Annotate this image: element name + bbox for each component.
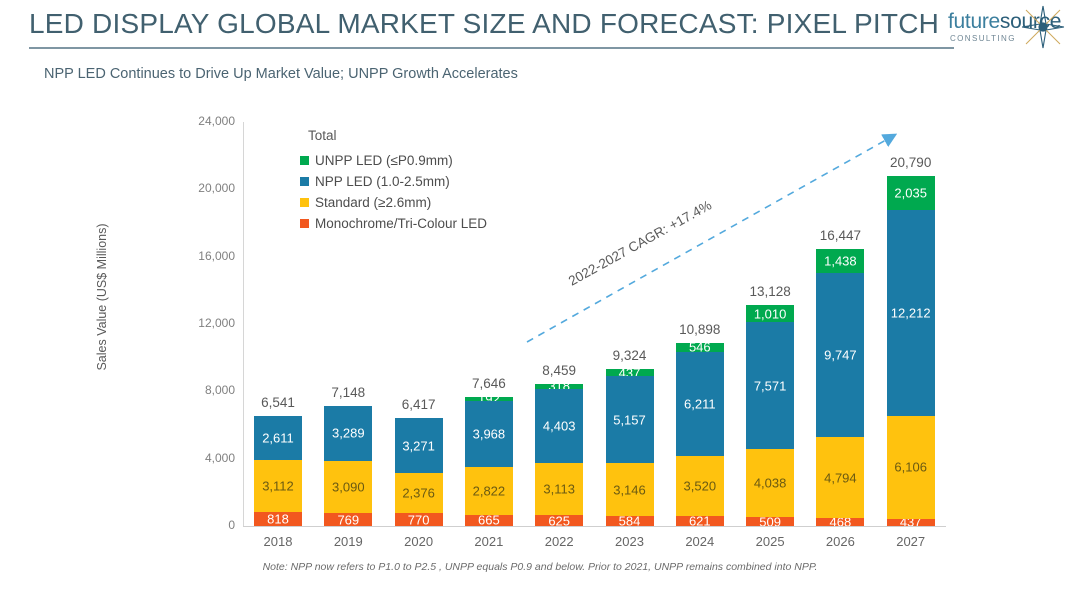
bar-segment: 12,212 — [887, 210, 935, 416]
bar-segment-value: 4,794 — [816, 470, 864, 485]
bar-segment: 3,146 — [606, 463, 654, 516]
bar-segment-value: 3,271 — [395, 438, 443, 453]
bar-segment: 3,113 — [535, 463, 583, 515]
y-axis-tick-label: 20,000 — [173, 181, 235, 195]
y-axis-tick-label: 0 — [173, 518, 235, 532]
bar-segment: 9,747 — [816, 273, 864, 437]
bar-segment-value: 2,376 — [395, 486, 443, 501]
y-axis-tick-label: 8,000 — [173, 383, 235, 397]
stacked-bar[interactable]: 2,6113,1128186,541 — [254, 416, 302, 526]
bar-total-label: 8,459 — [524, 363, 594, 378]
bar-group[interactable]: 3184,4033,1136258,459 — [524, 122, 594, 526]
bar-segment: 584 — [606, 516, 654, 526]
bar-segment: 3,968 — [465, 401, 513, 468]
bar-total-label: 7,646 — [454, 376, 524, 391]
x-axis-tick-label: 2024 — [665, 534, 735, 549]
bar-segment-value: 6,211 — [676, 397, 724, 412]
x-axis-tick-label: 2018 — [243, 534, 313, 549]
bar-segment-value: 3,146 — [606, 482, 654, 497]
y-axis-tick-label: 4,000 — [173, 451, 235, 465]
bar-segment-value: 7,571 — [746, 378, 794, 393]
bar-segment-value: 509 — [746, 517, 794, 526]
bar-segment-value: 437 — [606, 369, 654, 376]
bar-segment-value: 818 — [254, 512, 302, 526]
bar-segment: 770 — [395, 513, 443, 526]
bar-segment-value: 468 — [816, 518, 864, 526]
bar-group[interactable]: 4375,1573,1465849,324 — [595, 122, 665, 526]
x-axis-tick-label: 2020 — [384, 534, 454, 549]
x-axis-tick-label: 2027 — [876, 534, 946, 549]
bar-segment-value: 3,968 — [465, 426, 513, 441]
legend-item-label: UNPP LED (≤P0.9mm) — [315, 153, 453, 168]
bar-segment: 437 — [606, 369, 654, 376]
x-axis-tick-label: 2026 — [805, 534, 875, 549]
stacked-bar[interactable]: 2,03512,2126,10643720,790 — [887, 176, 935, 526]
legend-item-label: Monochrome/Tri-Colour LED — [315, 216, 487, 231]
bar-segment-value: 665 — [465, 515, 513, 526]
stacked-bar[interactable]: 3,2893,0907697,148 — [324, 406, 372, 526]
bar-segment: 3,520 — [676, 456, 724, 515]
x-axis-line — [243, 526, 946, 527]
stacked-bar[interactable]: 5466,2113,52062110,898 — [676, 343, 724, 526]
y-axis-tick-label: 16,000 — [173, 249, 235, 263]
stacked-bar[interactable]: 1,4389,7474,79446816,447 — [816, 249, 864, 526]
legend-swatch-icon — [300, 219, 309, 228]
bar-segment: 621 — [676, 516, 724, 526]
bar-segment-value: 625 — [535, 515, 583, 526]
bar-group[interactable]: 1,4389,7474,79446816,447 — [805, 122, 875, 526]
bar-segment-value: 437 — [887, 519, 935, 526]
bar-segment-value: 5,157 — [606, 412, 654, 427]
legend-item[interactable]: Monochrome/Tri-Colour LED — [300, 213, 487, 234]
stacked-bar[interactable]: 3184,4033,1136258,459 — [535, 384, 583, 526]
legend-swatch-icon — [300, 156, 309, 165]
chart-legend: Total UNPP LED (≤P0.9mm)NPP LED (1.0-2.5… — [300, 128, 487, 234]
bar-segment-value: 770 — [395, 513, 443, 526]
bar-segment-value: 4,403 — [535, 419, 583, 434]
bar-segment: 769 — [324, 513, 372, 526]
bar-total-label: 10,898 — [665, 322, 735, 337]
bar-segment-value: 6,106 — [887, 460, 935, 475]
bar-segment: 3,112 — [254, 460, 302, 512]
bar-segment: 7,571 — [746, 322, 794, 449]
bar-segment: 468 — [816, 518, 864, 526]
bar-segment: 546 — [676, 343, 724, 352]
bar-group[interactable]: 2,03512,2126,10643720,790 — [876, 122, 946, 526]
bar-segment: 4,038 — [746, 449, 794, 517]
bar-segment: 2,376 — [395, 473, 443, 513]
bar-total-label: 20,790 — [876, 155, 946, 170]
bar-segment-value: 2,035 — [887, 186, 935, 201]
bar-total-label: 7,148 — [313, 385, 383, 400]
chart-footnote: Note: NPP now refers to P1.0 to P2.5 , U… — [0, 561, 1080, 573]
bar-total-label: 16,447 — [805, 228, 875, 243]
bar-segment-value: 3,113 — [535, 482, 583, 497]
bar-segment-value: 621 — [676, 516, 724, 526]
x-axis-tick-label: 2023 — [595, 534, 665, 549]
bar-segment: 3,090 — [324, 461, 372, 513]
x-axis-tick-label: 2021 — [454, 534, 524, 549]
bar-segment: 3,289 — [324, 406, 372, 461]
y-axis-tick-label: 24,000 — [173, 114, 235, 128]
bar-segment: 2,822 — [465, 467, 513, 515]
x-axis-tick-label: 2025 — [735, 534, 805, 549]
bar-segment-value: 3,090 — [324, 480, 372, 495]
bar-segment-value: 769 — [324, 513, 372, 526]
legend-item-label: Standard (≥2.6mm) — [315, 195, 431, 210]
legend-item-label: NPP LED (1.0-2.5mm) — [315, 174, 450, 189]
bar-segment-value: 4,038 — [746, 476, 794, 491]
bar-total-label: 9,324 — [595, 348, 665, 363]
bar-segment-value: 3,112 — [254, 479, 302, 494]
x-axis-tick-label: 2019 — [313, 534, 383, 549]
legend-item[interactable]: NPP LED (1.0-2.5mm) — [300, 171, 487, 192]
y-axis-tick-label: 12,000 — [173, 316, 235, 330]
bar-segment: 2,611 — [254, 416, 302, 460]
bar-group[interactable]: 1,0107,5714,03850913,128 — [735, 122, 805, 526]
legend-item[interactable]: UNPP LED (≤P0.9mm) — [300, 150, 487, 171]
bar-segment-value: 12,212 — [887, 306, 935, 321]
bar-segment: 1,010 — [746, 305, 794, 322]
bar-segment-value: 3,520 — [676, 478, 724, 493]
bar-segment: 625 — [535, 515, 583, 526]
bar-segment-value: 2,611 — [254, 430, 302, 445]
legend-swatch-icon — [300, 177, 309, 186]
bar-total-label: 6,541 — [243, 395, 313, 410]
bar-segment-value: 1,010 — [746, 306, 794, 321]
bar-segment: 6,106 — [887, 416, 935, 519]
legend-item[interactable]: Standard (≥2.6mm) — [300, 192, 487, 213]
bar-segment-value: 2,822 — [465, 484, 513, 499]
bar-segment: 437 — [887, 519, 935, 526]
bar-segment: 4,794 — [816, 437, 864, 518]
bar-segment: 2,035 — [887, 176, 935, 210]
stacked-bar[interactable]: 1923,9682,8226657,646 — [465, 397, 513, 526]
bar-segment: 665 — [465, 515, 513, 526]
bar-segment: 4,403 — [535, 389, 583, 463]
bar-segment-value: 1,438 — [816, 254, 864, 269]
bar-segment: 1,438 — [816, 249, 864, 273]
bar-segment: 5,157 — [606, 376, 654, 463]
bar-total-label: 6,417 — [384, 397, 454, 412]
stacked-bar[interactable]: 1,0107,5714,03850913,128 — [746, 305, 794, 526]
bar-segment: 3,271 — [395, 418, 443, 473]
legend-swatch-icon — [300, 198, 309, 207]
bar-total-label: 13,128 — [735, 284, 805, 299]
stacked-bar[interactable]: 3,2712,3767706,417 — [395, 418, 443, 526]
bar-segment-value: 546 — [676, 343, 724, 352]
bar-segment: 818 — [254, 512, 302, 526]
bar-segment: 509 — [746, 517, 794, 526]
y-axis-title: Sales Value (US$ Millions) — [95, 187, 109, 407]
bar-segment-value: 3,289 — [324, 426, 372, 441]
bar-group[interactable]: 5466,2113,52062110,898 — [665, 122, 735, 526]
bar-segment-value: 584 — [606, 516, 654, 526]
stacked-bar[interactable]: 4375,1573,1465849,324 — [606, 369, 654, 526]
bar-segment-value: 9,747 — [816, 348, 864, 363]
legend-title: Total — [308, 128, 487, 143]
x-axis-tick-label: 2022 — [524, 534, 594, 549]
stacked-bar-chart: Sales Value (US$ Millions) 04,0008,00012… — [0, 0, 1080, 590]
bar-segment: 6,211 — [676, 352, 724, 457]
